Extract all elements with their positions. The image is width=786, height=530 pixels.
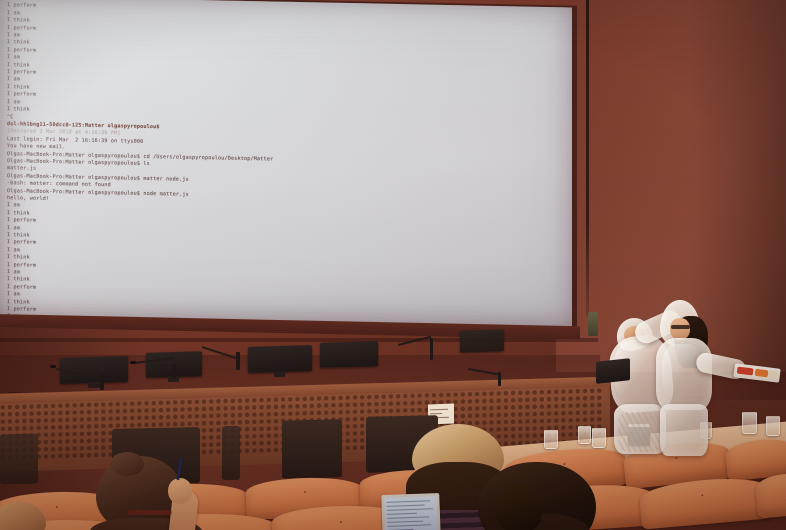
performer-right xyxy=(650,300,760,456)
desk-monitor-3-stand xyxy=(274,371,285,377)
back-seat-5 xyxy=(0,434,38,485)
desk-monitor-3 xyxy=(248,345,312,373)
back-seat-2 xyxy=(222,426,240,480)
eyeglasses xyxy=(671,325,690,329)
water-glass-5 xyxy=(766,416,780,436)
laptop-screen xyxy=(384,496,437,530)
stage-equipment xyxy=(588,312,598,336)
microphone-head-2 xyxy=(130,361,136,364)
microphone-base-3 xyxy=(236,352,240,370)
microphone-arm-3 xyxy=(202,346,237,359)
laptop[interactable] xyxy=(381,493,441,530)
hand xyxy=(168,478,192,504)
desk-monitor-1-stand xyxy=(88,382,100,388)
microphone-base-1 xyxy=(100,374,104,390)
projection-screen: I thinkI performI amI thinkI performI am… xyxy=(0,0,572,327)
hair-bun xyxy=(110,452,144,476)
microphone-base-5 xyxy=(498,372,501,386)
microphone-arm-5 xyxy=(468,368,500,375)
desk-monitor-5 xyxy=(460,329,504,352)
suit-torso xyxy=(656,338,712,410)
lecture-hall-photo: I thinkI performI amI thinkI performI am… xyxy=(0,0,786,530)
face xyxy=(670,318,690,340)
food-item-red xyxy=(737,367,754,376)
desk-monitor-4 xyxy=(320,341,378,368)
microphone-base-2 xyxy=(172,364,176,378)
suit-legs xyxy=(660,404,708,456)
wall-seam xyxy=(586,0,589,316)
eyeglasses xyxy=(128,510,172,515)
water-glass-2 xyxy=(578,426,591,444)
terminal-output: I thinkI performI amI thinkI performI am… xyxy=(7,0,567,327)
stage-monitor-side xyxy=(596,358,630,384)
back-seat-3 xyxy=(282,419,342,478)
food-item-orange xyxy=(755,369,769,378)
seat-row1-7 xyxy=(754,471,786,518)
water-glass-1 xyxy=(544,430,558,449)
microphone-base-4 xyxy=(430,338,433,360)
food-item-pale xyxy=(769,370,778,378)
microphone-arm-4 xyxy=(398,336,431,346)
microphone-head-1 xyxy=(50,365,56,368)
